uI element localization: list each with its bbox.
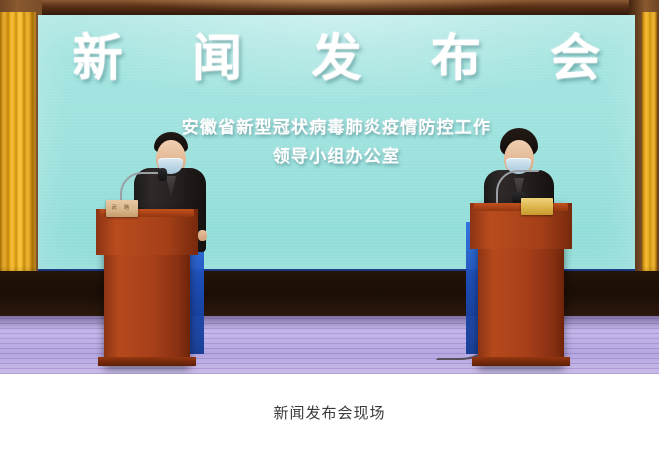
- nameplate-left-text: 武 略: [106, 204, 138, 211]
- page-root: 新 闻 发 布 会 安徽省新型冠状病毒肺炎疫情防控工作 领导小组办公室: [0, 0, 659, 452]
- hand: [198, 230, 207, 241]
- curtain-left: [0, 12, 36, 302]
- podium-left: [104, 209, 190, 366]
- podium-right-base: [472, 357, 570, 366]
- podium-right: [478, 203, 564, 366]
- photo-caption: 新闻发布会现场: [0, 402, 659, 424]
- curtain-right: [642, 12, 657, 302]
- screen-title: 新 闻 发 布 会: [38, 33, 635, 83]
- nameplate-left: 武 略: [106, 200, 138, 217]
- podium-left-base: [98, 357, 196, 366]
- microphone-head-left: [158, 168, 167, 181]
- nameplate-right: [521, 198, 553, 215]
- press-conference-photo: 新 闻 发 布 会 安徽省新型冠状病毒肺炎疫情防控工作 领导小组办公室: [0, 0, 659, 374]
